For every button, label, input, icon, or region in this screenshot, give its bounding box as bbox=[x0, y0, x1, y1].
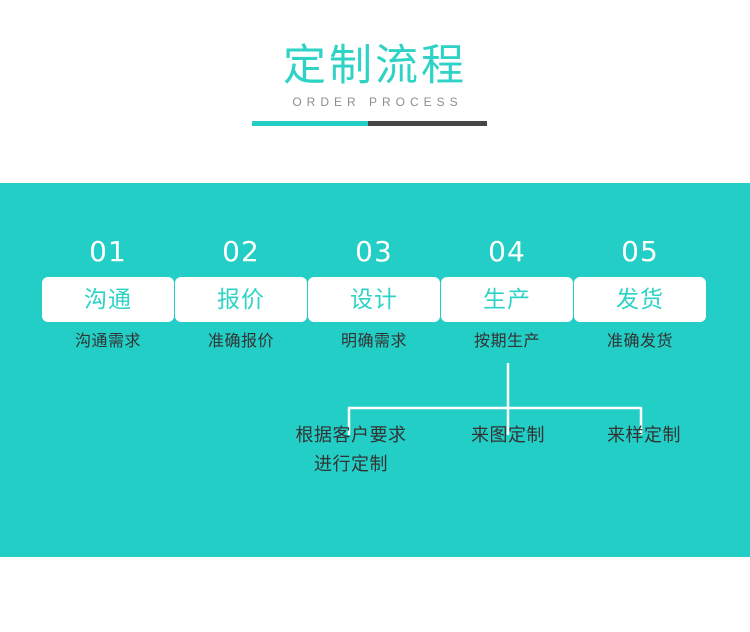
step-number: 05 bbox=[574, 235, 706, 269]
option-item-2: 来图定制 bbox=[447, 421, 569, 450]
page-header: 定制流程 ORDER PROCESS bbox=[0, 0, 750, 183]
step-box-label: 生产 bbox=[483, 286, 531, 314]
step-box-label: 设计 bbox=[350, 286, 398, 314]
step-box[interactable]: 沟通 bbox=[42, 277, 174, 322]
step-number: 02 bbox=[175, 235, 307, 269]
header-divider bbox=[252, 121, 487, 126]
step-number: 04 bbox=[441, 235, 573, 269]
process-step-1: 01 沟通 沟通需求 bbox=[42, 235, 174, 351]
process-step-3: 03 设计 明确需求 bbox=[308, 235, 440, 351]
step-box[interactable]: 报价 bbox=[175, 277, 307, 322]
step-box-label: 发货 bbox=[616, 286, 664, 314]
step-caption: 沟通需求 bbox=[42, 331, 174, 351]
process-step-5: 05 发货 准确发货 bbox=[574, 235, 706, 351]
process-step-4: 04 生产 按期生产 bbox=[441, 235, 573, 351]
option-item-3: 来样定制 bbox=[583, 421, 705, 450]
option-item-1: 根据客户要求 进行定制 bbox=[262, 421, 440, 479]
option-line-1: 根据客户要求 bbox=[262, 421, 440, 450]
step-box[interactable]: 生产 bbox=[441, 277, 573, 322]
step-box[interactable]: 设计 bbox=[308, 277, 440, 322]
footer-whitespace bbox=[0, 557, 750, 632]
page-title: 定制流程 bbox=[0, 40, 750, 92]
process-step-2: 02 报价 准确报价 bbox=[175, 235, 307, 351]
process-band: 01 沟通 沟通需求 02 报价 准确报价 03 设计 明确需求 04 生产 bbox=[0, 183, 750, 557]
process-steps: 01 沟通 沟通需求 02 报价 准确报价 03 设计 明确需求 04 生产 bbox=[0, 183, 750, 373]
step-box-label: 沟通 bbox=[84, 286, 132, 314]
option-line-1: 来图定制 bbox=[447, 421, 569, 450]
header-divider-accent-segment bbox=[252, 121, 368, 126]
step-caption: 准确报价 bbox=[175, 331, 307, 351]
header-divider-dark-segment bbox=[368, 121, 487, 126]
step-box[interactable]: 发货 bbox=[574, 277, 706, 322]
step-caption: 明确需求 bbox=[308, 331, 440, 351]
option-line-2: 进行定制 bbox=[262, 450, 440, 479]
step-box-label: 报价 bbox=[217, 286, 265, 314]
step-number: 03 bbox=[308, 235, 440, 269]
customization-options: 根据客户要求 进行定制 来图定制 来样定制 bbox=[0, 421, 750, 511]
option-line-1: 来样定制 bbox=[583, 421, 705, 450]
step-caption: 准确发货 bbox=[574, 331, 706, 351]
page-subtitle: ORDER PROCESS bbox=[0, 94, 750, 110]
step-caption: 按期生产 bbox=[441, 331, 573, 351]
step-number: 01 bbox=[42, 235, 174, 269]
